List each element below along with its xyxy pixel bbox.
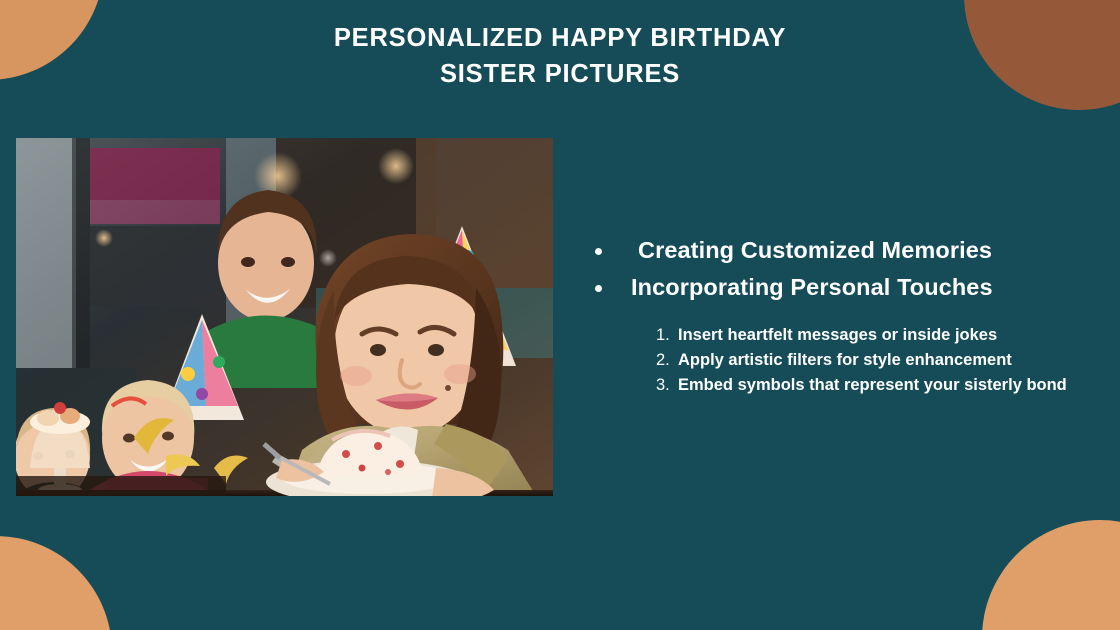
numbered-item-0-marker: 1. <box>656 323 670 348</box>
page-title: PERSONALIZED HAPPY BIRTHDAY SISTER PICTU… <box>0 20 1120 92</box>
numbered-item-2-marker: 3. <box>656 373 670 398</box>
title-line-2: SISTER PICTURES <box>0 56 1120 92</box>
decorative-circle-bottom-left <box>0 536 112 630</box>
numbered-sub-list: 1. Insert heartfelt messages or inside j… <box>580 323 1105 398</box>
bullet-dot-icon <box>595 285 602 292</box>
title-line-1: PERSONALIZED HAPPY BIRTHDAY <box>0 20 1120 56</box>
numbered-item-1-label: Apply artistic filters for style enhance… <box>678 351 1012 369</box>
numbered-item-1-marker: 2. <box>656 348 670 373</box>
bullet-item-0-label: Creating Customized Memories <box>638 237 992 263</box>
content-column: Creating Customized Memories Incorporati… <box>580 232 1105 398</box>
decorative-circle-bottom-right <box>982 520 1120 630</box>
numbered-item-1: 2. Apply artistic filters for style enha… <box>656 348 1105 373</box>
numbered-item-0-label: Insert heartfelt messages or inside joke… <box>678 326 997 344</box>
bullet-item-0: Creating Customized Memories <box>580 232 1105 269</box>
bullet-item-1: Incorporating Personal Touches <box>580 269 1105 306</box>
numbered-item-0: 1. Insert heartfelt messages or inside j… <box>656 323 1105 348</box>
birthday-photo <box>16 138 553 496</box>
slide-canvas: PERSONALIZED HAPPY BIRTHDAY SISTER PICTU… <box>0 0 1120 630</box>
bullet-item-1-label: Incorporating Personal Touches <box>631 274 993 300</box>
main-bullet-list: Creating Customized Memories Incorporati… <box>580 232 1105 306</box>
numbered-item-2: 3. Embed symbols that represent your sis… <box>656 373 1105 398</box>
bullet-dot-icon <box>595 248 602 255</box>
numbered-item-2-label: Embed symbols that represent your sister… <box>678 376 1067 394</box>
